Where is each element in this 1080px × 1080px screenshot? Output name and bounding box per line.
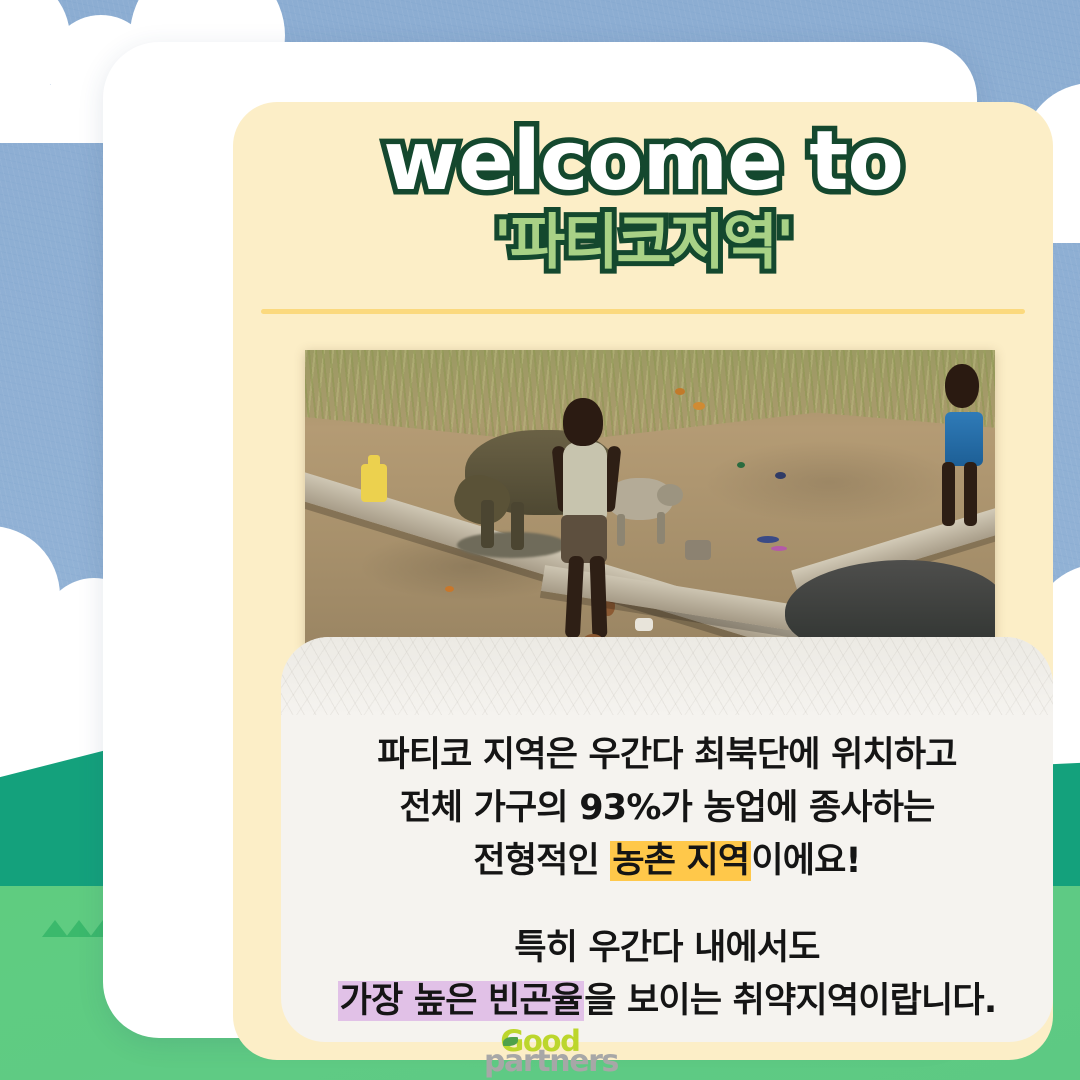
- desc-line-2: 전체 가구의 93%가 농업에 종사하는: [399, 788, 934, 828]
- panel-paper-texture: [281, 637, 1053, 715]
- title-divider: [261, 309, 1025, 314]
- village-photo: [305, 350, 995, 650]
- brand-logo: Good partners: [0, 1029, 1080, 1074]
- child2-head: [945, 364, 979, 408]
- highlight-rural-area: 농촌 지역: [610, 841, 751, 881]
- child-body: [563, 442, 607, 522]
- desc-line-1: 파티코 지역은 우간다 최북단에 위치하고: [377, 735, 956, 775]
- child-head: [563, 398, 603, 446]
- content-card-inner: welcome to '파티코지역': [233, 102, 1053, 1060]
- page-title-korean: '파티코지역': [233, 210, 1053, 276]
- desc-line-4: 특히 우간다 내에서도: [514, 928, 819, 968]
- desc-line-5-suffix: 을 보이는 취약지역이랍니다.: [584, 981, 996, 1021]
- paragraph-gap: [281, 889, 1053, 922]
- highlight-highest-poverty: 가장 높은 빈곤율: [338, 981, 585, 1021]
- title-block: welcome to '파티코지역': [233, 120, 1053, 276]
- content-card-outer: welcome to '파티코지역': [103, 42, 977, 1038]
- description-text: 파티코 지역은 우간다 최북단에 위치하고 전체 가구의 93%가 농업에 종사…: [281, 729, 1053, 1028]
- logo-good-text: Good: [500, 1029, 579, 1053]
- desc-line-3-prefix: 전형적인: [473, 841, 610, 881]
- desc-line-3-suffix: 이에요!: [751, 841, 860, 881]
- page-title-english: welcome to: [233, 120, 1053, 204]
- grass-tuft-icon: [66, 920, 92, 937]
- goat-head: [657, 484, 683, 506]
- jerrycan-icon: [361, 464, 387, 502]
- description-panel: 파티코 지역은 우간다 최북단에 위치하고 전체 가구의 93%가 농업에 종사…: [281, 637, 1053, 1042]
- grass-tuft-icon: [42, 920, 68, 937]
- child2-body: [945, 412, 983, 466]
